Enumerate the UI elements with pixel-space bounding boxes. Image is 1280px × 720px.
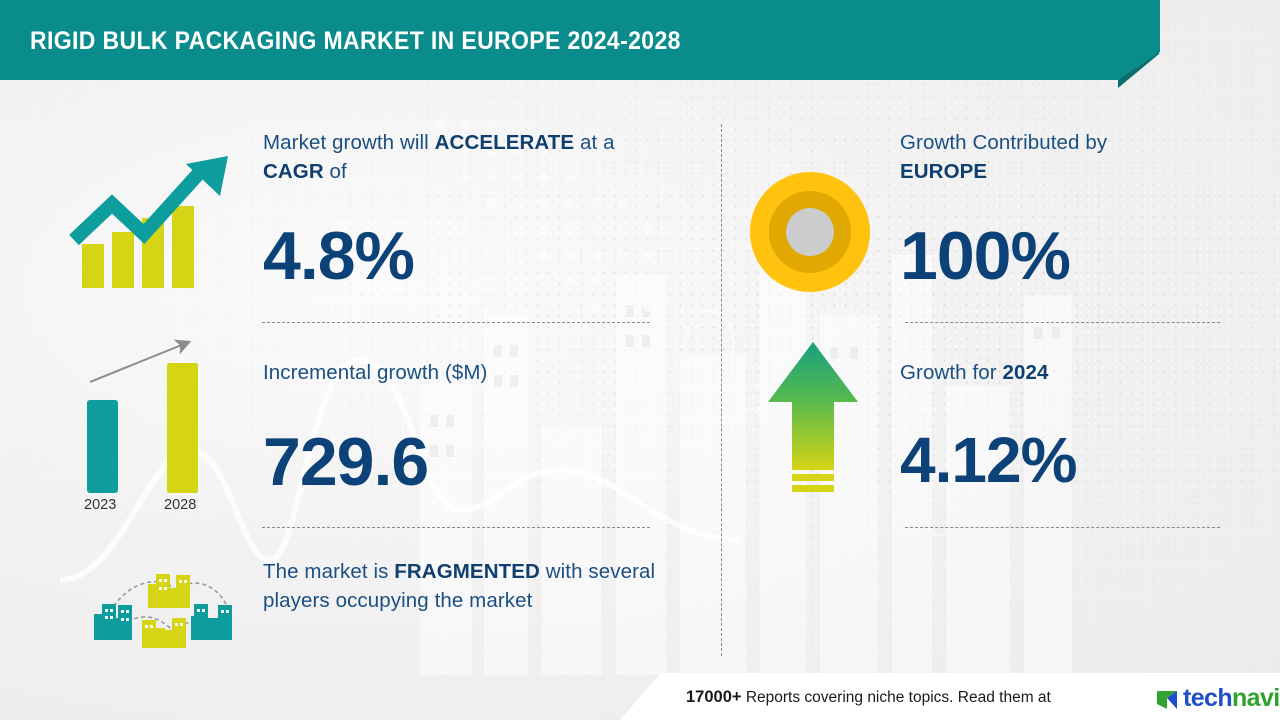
logo-text-navio: navio (1232, 684, 1280, 713)
incremental-growth-value: 729.6 (263, 428, 428, 496)
technavio-mark-icon (1155, 686, 1181, 712)
cagr-text-suffix: of (324, 160, 347, 183)
up-arrow-icon (766, 340, 860, 508)
year-growth-caption: Growth for 2024 (900, 358, 1230, 387)
fragmentation-text-prefix: The market is (263, 560, 394, 583)
city-cluster-icon (72, 560, 252, 652)
growth-chart-icon (68, 148, 236, 296)
year-growth-label-bold: 2024 (1003, 361, 1049, 384)
separator-left-1 (262, 322, 650, 323)
separator-right-2 (905, 527, 1220, 528)
year-growth-label: Growth for (900, 361, 997, 384)
cagr-value: 4.8% (263, 222, 414, 290)
cagr-caption: Market growth will ACCELERATE at a CAGR … (263, 128, 663, 186)
fragmentation-text-bold: FRAGMENTED (394, 560, 540, 583)
footer (0, 660, 1280, 720)
technavio-logo[interactable]: technavio™ (1155, 684, 1280, 713)
footer-text: 17000+ Reports covering niche topics. Re… (686, 688, 1051, 707)
region-value: 100% (900, 222, 1070, 290)
cagr-text-prefix: Market growth will (263, 131, 435, 154)
logo-text-tech: tech (1183, 684, 1232, 713)
footer-report-count: 17000+ (686, 688, 742, 706)
incremental-growth-label: Incremental growth ($M) (263, 358, 663, 387)
cagr-text-mid: at a (574, 131, 614, 154)
separator-left-2 (262, 527, 650, 528)
cagr-text-bold-accelerate: ACCELERATE (435, 131, 575, 154)
vertical-divider (721, 124, 722, 656)
region-label-bold: EUROPE (900, 160, 987, 183)
cagr-text-bold-cagr: CAGR (263, 160, 324, 183)
bar-label-2028: 2028 (164, 497, 196, 513)
footer-tagline: Reports covering niche topics. Read them… (746, 689, 1051, 706)
region-caption: Growth Contributed by EUROPE (900, 128, 1230, 186)
region-label: Growth Contributed by (900, 131, 1107, 154)
bar-label-2023: 2023 (84, 497, 116, 513)
separator-right-1 (905, 322, 1220, 323)
two-bar-chart-icon (62, 332, 242, 517)
fragmentation-caption: The market is FRAGMENTED with several pl… (263, 557, 683, 615)
donut-circle-icon (748, 170, 872, 294)
year-growth-value: 4.12% (900, 428, 1076, 492)
